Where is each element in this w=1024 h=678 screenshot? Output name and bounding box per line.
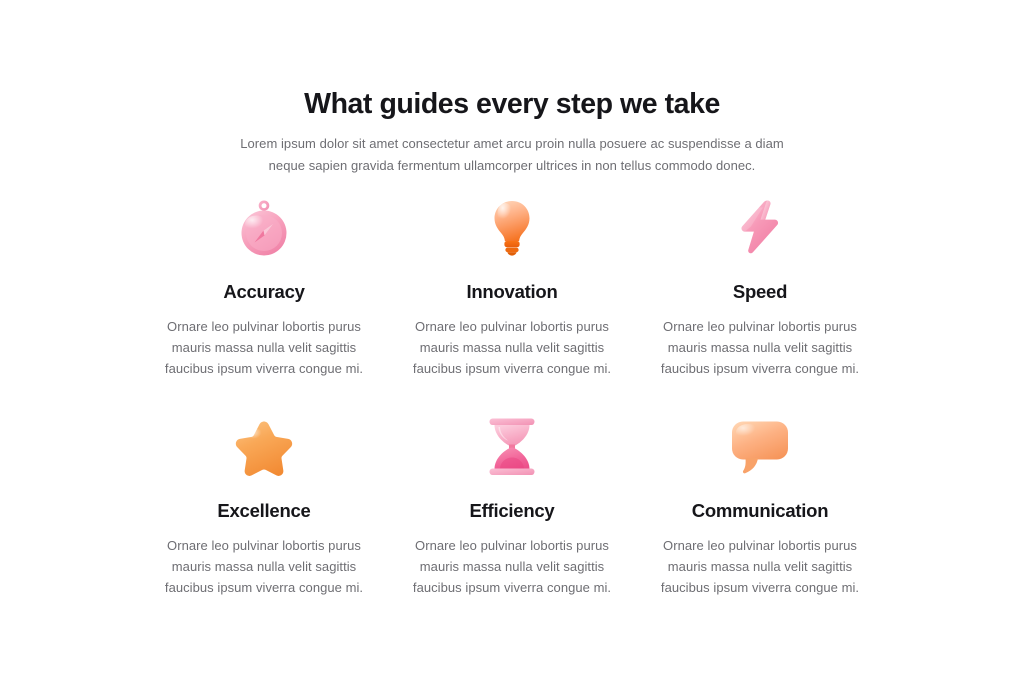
section-subtitle: Lorem ipsum dolor sit amet consectetur a…: [232, 133, 792, 176]
feature-card-communication[interactable]: Communication Ornare leo pulvinar lobort…: [636, 411, 884, 598]
feature-description: Ornare leo pulvinar lobortis purus mauri…: [660, 535, 860, 598]
feature-description: Ornare leo pulvinar lobortis purus mauri…: [164, 316, 364, 379]
feature-card-speed[interactable]: Speed Ornare leo pulvinar lobortis purus…: [636, 192, 884, 379]
page-title: What guides every step we take: [0, 86, 1024, 122]
speech-bubble-icon: [724, 411, 796, 483]
landing-page-values-section: What guides every step we take Lorem ips…: [0, 0, 1024, 678]
feature-title: Speed: [733, 280, 787, 304]
feature-description: Ornare leo pulvinar lobortis purus mauri…: [164, 535, 364, 598]
hourglass-icon: [476, 411, 548, 483]
section-header: What guides every step we take Lorem ips…: [0, 86, 1024, 176]
feature-title: Innovation: [466, 280, 557, 304]
lightning-bolt-icon: [724, 192, 796, 264]
feature-description: Ornare leo pulvinar lobortis purus mauri…: [412, 316, 612, 379]
compass-icon: [228, 192, 300, 264]
lightbulb-icon: [476, 192, 548, 264]
feature-grid: Accuracy Ornare leo pulvinar lobortis pu…: [140, 192, 884, 598]
feature-title: Accuracy: [223, 280, 304, 304]
feature-title: Efficiency: [470, 499, 555, 523]
feature-card-efficiency[interactable]: Efficiency Ornare leo pulvinar lobortis …: [388, 411, 636, 598]
feature-card-innovation[interactable]: Innovation Ornare leo pulvinar lobortis …: [388, 192, 636, 379]
feature-title: Communication: [692, 499, 829, 523]
feature-title: Excellence: [217, 499, 310, 523]
feature-description: Ornare leo pulvinar lobortis purus mauri…: [412, 535, 612, 598]
feature-card-accuracy[interactable]: Accuracy Ornare leo pulvinar lobortis pu…: [140, 192, 388, 379]
feature-description: Ornare leo pulvinar lobortis purus mauri…: [660, 316, 860, 379]
star-icon: [228, 411, 300, 483]
feature-card-excellence[interactable]: Excellence Ornare leo pulvinar lobortis …: [140, 411, 388, 598]
